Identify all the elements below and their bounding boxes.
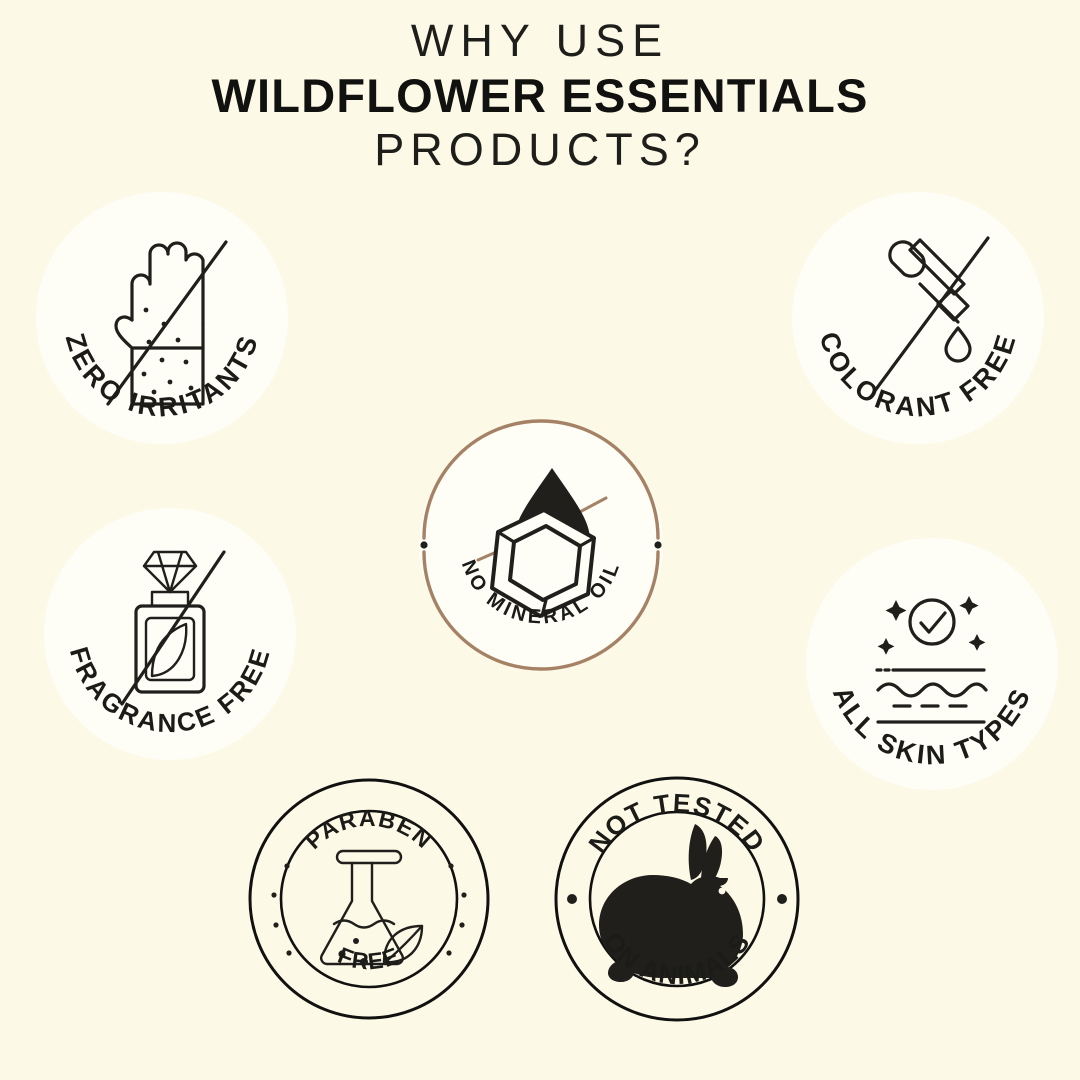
title-line-3: PRODUCTS? xyxy=(0,127,1080,172)
title-line-1: WHY USE xyxy=(0,18,1080,72)
badge-colorant-free: COLORANT FREE xyxy=(792,192,1044,444)
badge-fragrance-free: FRAGRANCE FREE xyxy=(44,508,296,760)
ring-dot-right xyxy=(654,541,661,548)
poster-canvas: WHY USE WILDFLOWER ESSENTIALS PRODUCTS? xyxy=(0,0,1080,1080)
stamp-dot-right xyxy=(777,894,787,904)
badge-not-tested-on-animals: NOT TESTED ON ANIMALS xyxy=(552,774,802,1024)
badge-zero-irritants: ZERO IRRITANTS xyxy=(36,192,288,444)
title-line-2-brand: WILDFLOWER ESSENTIALS xyxy=(0,72,1080,127)
badge-no-mineral-oil: NO MINERAL OIL xyxy=(410,414,672,676)
badge-paraben-free: PARABEN FREE xyxy=(246,776,492,1022)
badge-label-paraben: PARABEN xyxy=(300,805,438,854)
stamp-dots xyxy=(271,863,466,955)
page-title: WHY USE WILDFLOWER ESSENTIALS PRODUCTS? xyxy=(0,18,1080,172)
badge-all-skin-types: ALL SKIN TYPES xyxy=(806,538,1058,790)
stamp-dot-left xyxy=(567,894,577,904)
badge-label-free: FREE xyxy=(334,942,403,975)
ring-dot-left xyxy=(420,541,427,548)
